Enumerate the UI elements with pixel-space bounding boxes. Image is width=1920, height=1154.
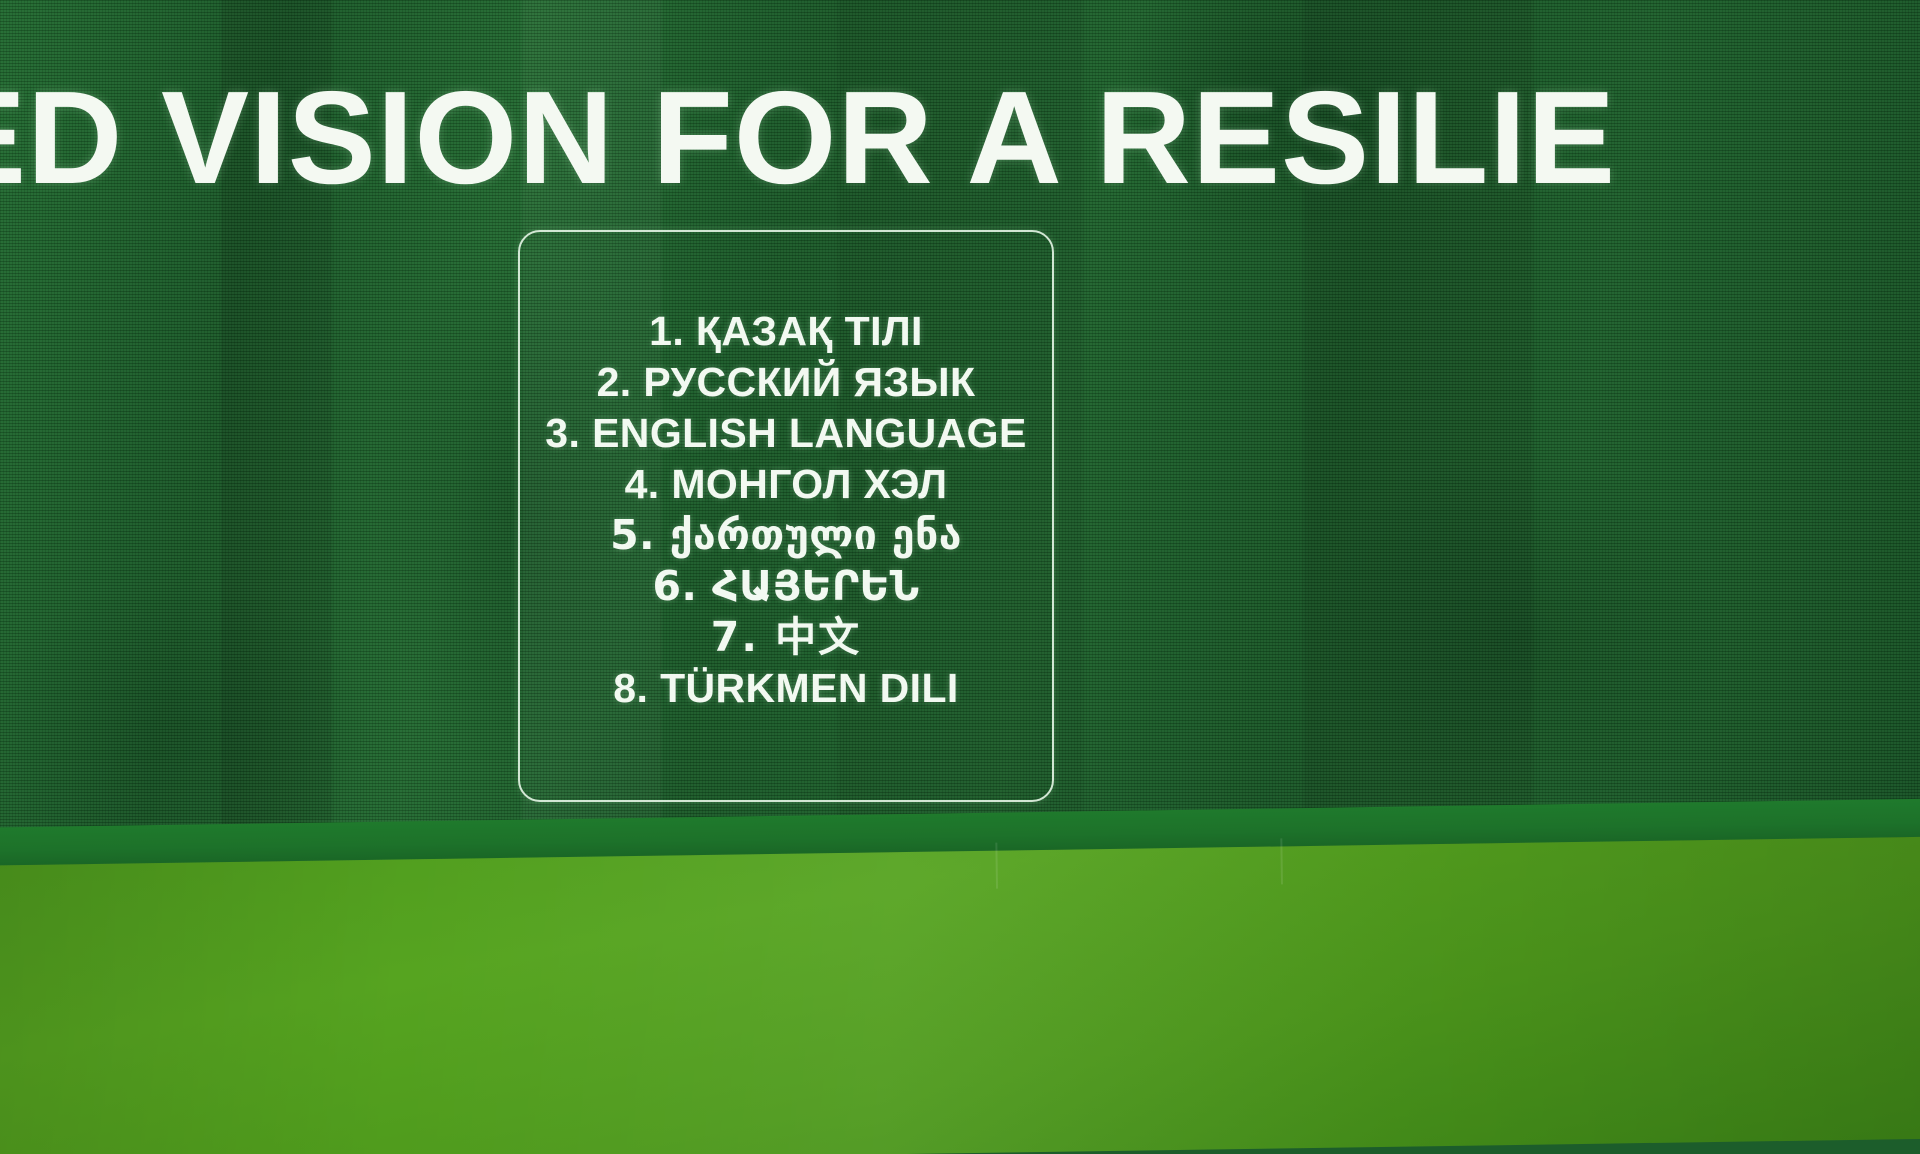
stage-band-shading: [0, 836, 1920, 1154]
language-list-item: 4. МОНГОЛ ХЭЛ: [520, 459, 1052, 510]
language-list: 1. ҚАЗАҚ ТІЛІ 2. РУССКИЙ ЯЗЫК 3. ENGLISH…: [520, 306, 1052, 714]
language-list-item: 8. TÜRKMEN DILI: [520, 663, 1052, 714]
language-list-item: 3. ENGLISH LANGUAGE: [520, 408, 1052, 459]
headline-text: ED VISION FOR A RESILIE: [0, 72, 1920, 204]
led-screen-photo: ED VISION FOR A RESILIE 1. ҚАЗАҚ ТІЛІ 2.…: [0, 0, 1920, 1154]
language-list-box: 1. ҚАЗАҚ ТІЛІ 2. РУССКИЙ ЯЗЫК 3. ENGLISH…: [518, 230, 1054, 802]
language-list-item: 6. ՀԱՅԵՐԵՆ: [520, 561, 1052, 612]
language-list-item: 5. ქართული ენა: [520, 510, 1052, 561]
language-list-item: 2. РУССКИЙ ЯЗЫК: [520, 357, 1052, 408]
language-list-item: 1. ҚАЗАҚ ТІЛІ: [520, 306, 1052, 357]
stage-bottom-bands: [0, 798, 1920, 1154]
stage-band-bright-green: [0, 836, 1920, 1154]
language-list-item: 7. 中文: [520, 612, 1052, 663]
